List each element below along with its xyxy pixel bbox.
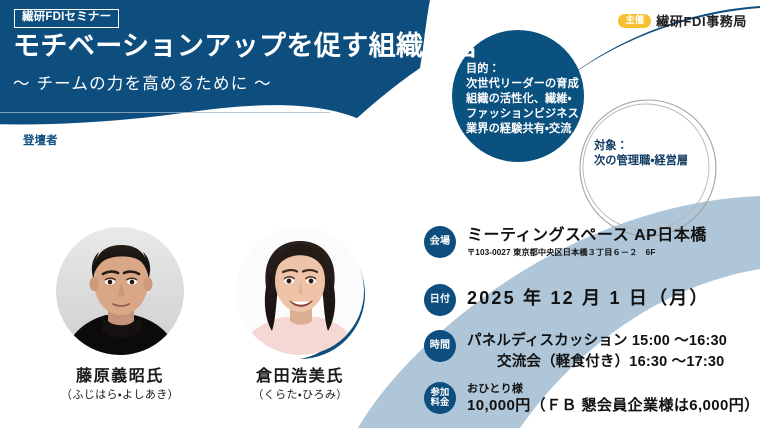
- date-value: 2025 年 12 月 1 日（月）: [467, 285, 710, 309]
- detail-row-fee: 参加 料金 おひとり様 10,000円（ＦＢ 懇会員企業様は6,000円）: [424, 382, 760, 428]
- purpose-line-0: 目的：: [466, 62, 646, 77]
- detail-row-time: 時間 パネルディスカッション 15:00 ～16:30 交流会（軽食付き）16:…: [424, 330, 760, 382]
- speaker-kana-0: （ふじはら・よしあき）: [30, 388, 210, 402]
- target-line-1: 次の管理職・経営層: [594, 154, 754, 169]
- speaker-summary-line: 300ブリッジ代表の藤原義昭氏、フルラジャパン社長の 倉田浩美氏: [18, 152, 455, 168]
- fee-body: おひとり様 10,000円（ＦＢ 懇会員企業様は6,000円）: [456, 382, 760, 416]
- speaker-avatar-0: [56, 227, 184, 355]
- organizer-badge: 主催: [618, 14, 651, 28]
- purpose-line-1: 次世代リーダーの育成: [466, 77, 646, 92]
- purpose-line-2: 組織の活性化、繊維・: [466, 92, 646, 107]
- date-body: 2025 年 12 月 1 日（月）: [456, 284, 710, 309]
- purpose-line-3: ファッションビジネス: [466, 107, 646, 122]
- speaker-avatar-1: [236, 227, 364, 355]
- detail-row-date: 日付 2025 年 12 月 1 日（月）: [424, 284, 760, 330]
- organizer-block: 主催 繊研FDI事務局: [618, 11, 747, 30]
- speaker-kana-1: （くらた・ひろみ）: [210, 388, 390, 402]
- purpose-circle-text: 目的： 次世代リーダーの育成 組織の活性化、繊維・ ファッションビジネス 業界の…: [466, 62, 646, 136]
- time-line-1: パネルディスカッション 15:00 ～16:30: [467, 331, 727, 352]
- page-subtitle: ～ チームの力を高めるために ～: [13, 76, 272, 93]
- speaker-name-block-1: 倉田浩美氏 （くらた・ひろみ）: [210, 367, 390, 402]
- target-circle-text: 対象： 次の管理職・経営層: [594, 139, 754, 169]
- venue-badge: 会場: [424, 226, 456, 258]
- time-badge: 時間: [424, 330, 456, 362]
- detail-row-venue: 会場 ミーティングスペース AP日本橋 〒103-0027 東京都中央区日本橋３…: [424, 226, 760, 284]
- fee-unit: おひとり様: [467, 383, 760, 395]
- speaker-label-badge: 登壇者: [14, 133, 67, 150]
- venue-address: 〒103-0027 東京都中央区日本橋３丁目６－２ 6F: [467, 248, 707, 259]
- fee-badge-line-2: 料金: [431, 398, 450, 408]
- venue-name: ミーティングスペース AP日本橋: [467, 227, 707, 245]
- event-details: 会場 ミーティングスペース AP日本橋 〒103-0027 東京都中央区日本橋３…: [424, 226, 760, 428]
- fee-badge: 参加 料金: [424, 382, 456, 414]
- time-body: パネルディスカッション 15:00 ～16:30 交流会（軽食付き）16:30 …: [456, 330, 727, 372]
- date-badge: 日付: [424, 284, 456, 316]
- fee-amount: 10,000円（ＦＢ 懇会員企業様は6,000円）: [467, 397, 760, 416]
- speaker-card-0: 藤原義昭氏 （ふじはら・よしあき）: [56, 227, 184, 355]
- target-line-0: 対象：: [594, 139, 754, 154]
- seminar-tag: 繊研FDIセミナー: [14, 9, 119, 28]
- organizer-name: 繊研FDI事務局: [656, 11, 747, 30]
- speaker-name-block-0: 藤原義昭氏 （ふじはら・よしあき）: [30, 367, 210, 402]
- speaker-name-1: 倉田浩美氏: [210, 367, 390, 386]
- speaker-card-1: 倉田浩美氏 （くらた・ひろみ）: [236, 227, 364, 355]
- header-section: 繊研FDIセミナー モチベーションアップを促す組織運営 ～ チームの力を高めるた…: [0, 0, 470, 185]
- purpose-line-4: 業界の経験共有・交流: [466, 122, 646, 137]
- time-line-2: 交流会（軽食付き）16:30 ～17:30: [467, 352, 727, 373]
- speaker-name-0: 藤原義昭氏: [30, 367, 210, 386]
- venue-body: ミーティングスペース AP日本橋 〒103-0027 東京都中央区日本橋３丁目６…: [456, 226, 707, 259]
- page-title: モチベーションアップを促す組織運営: [13, 33, 478, 60]
- seminar-flyer: 繊研FDIセミナー モチベーションアップを促す組織運営 ～ チームの力を高めるた…: [0, 0, 760, 428]
- header-divider: [0, 112, 330, 113]
